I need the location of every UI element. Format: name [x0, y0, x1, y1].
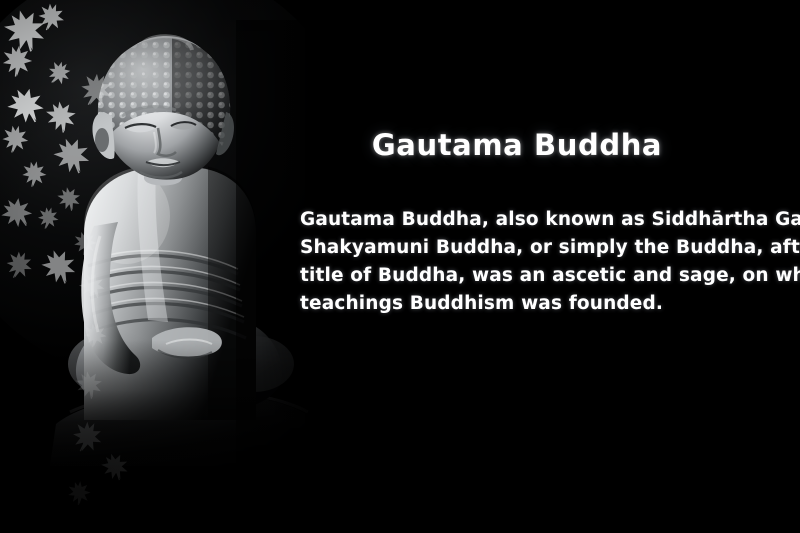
maple-leaf-icon	[0, 3, 53, 59]
page-title: Gautama Buddha	[300, 128, 732, 162]
maple-leaf-decoration	[0, 0, 135, 533]
maple-leaf-icon	[74, 268, 111, 305]
maple-leaf-icon	[0, 79, 53, 133]
maple-leaf-icon	[41, 55, 78, 92]
statue-bottom-fade	[40, 340, 370, 490]
maple-leaf-icon	[96, 448, 133, 485]
description-line: title of Buddha, was an ascetic and sage…	[300, 262, 778, 290]
maple-leaf-icon	[64, 414, 110, 460]
maple-leaf-icon	[0, 245, 39, 285]
maple-leaf-icon	[42, 98, 79, 135]
buddha-quote-poster: Gautama Buddha Gautama Buddha, also know…	[0, 0, 800, 533]
maple-leaf-icon	[0, 120, 34, 157]
description-line: Gautama Buddha, also known as Siddhārtha…	[300, 206, 778, 234]
maple-leaf-icon	[70, 228, 99, 257]
maple-leaf-icon	[35, 243, 83, 291]
text-column: Gautama Buddha Gautama Buddha, also know…	[300, 128, 778, 318]
maple-leaf-icon	[46, 130, 97, 181]
description-paragraph: Gautama Buddha, also known as Siddhārtha…	[300, 206, 778, 318]
maple-leaf-icon	[0, 42, 36, 80]
maple-leaf-icon	[17, 157, 50, 190]
maple-leaf-icon	[72, 368, 106, 402]
maple-leaf-icon	[71, 65, 120, 114]
maple-leaf-icon	[79, 319, 111, 351]
maple-leaf-icon	[31, 0, 70, 37]
maple-leaf-icon	[54, 184, 84, 214]
description-line: Shakyamuni Buddha, or simply the Buddha,…	[300, 234, 778, 262]
maple-leaf-icon	[0, 189, 41, 236]
description-line: teachings Buddhism was founded.	[300, 290, 778, 318]
maple-leaf-icon	[65, 479, 94, 508]
maple-leaf-icon	[33, 203, 63, 233]
